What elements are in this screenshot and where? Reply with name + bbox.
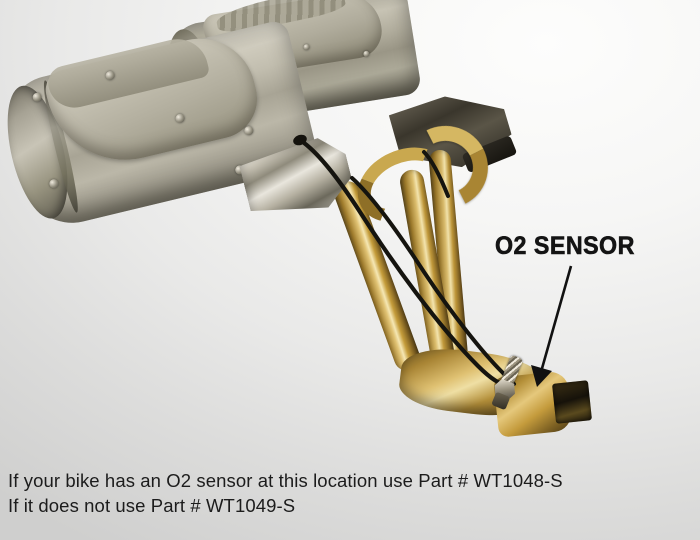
product-photo-stage: O2 SENSOR If your bike has an O2 sensor …	[0, 0, 700, 540]
exhaust-system-photo	[0, 0, 700, 455]
caption-line-1: If your bike has an O2 sensor at this lo…	[8, 468, 700, 493]
callout-arrow	[0, 0, 700, 455]
caption-line-2: If it does not use Part # WT1049-S	[8, 493, 700, 518]
o2-sensor-callout-label: O2 SENSOR	[495, 232, 635, 261]
caption-block: If your bike has an O2 sensor at this lo…	[8, 468, 700, 518]
